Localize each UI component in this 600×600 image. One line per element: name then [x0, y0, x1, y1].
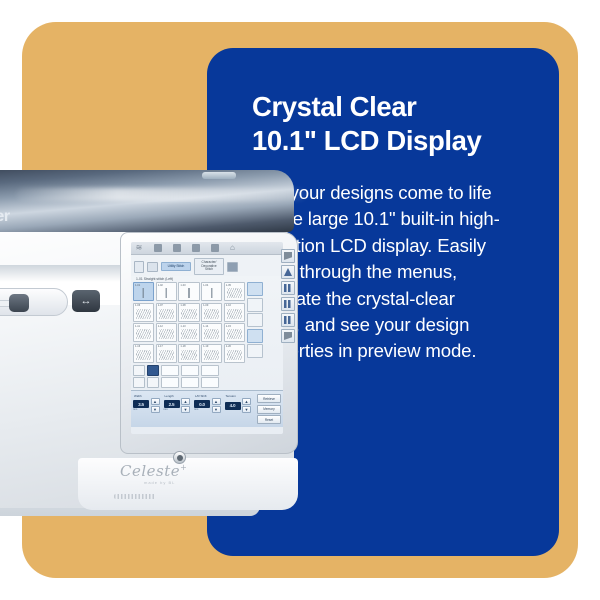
reset-button[interactable]: Reset [257, 415, 281, 424]
memory-button[interactable]: Memory [257, 405, 281, 414]
category-button[interactable] [247, 313, 263, 327]
pattern-cell[interactable] [161, 377, 179, 388]
pattern-cell[interactable] [201, 377, 219, 388]
tension-value: 4.0 [225, 402, 241, 410]
machine-logo-superscript: + [180, 463, 187, 472]
stitch-cell[interactable]: 1-02 [156, 282, 177, 301]
stitch-cell[interactable]: 1-04 [201, 282, 222, 301]
lcd-settings-bar[interactable]: Width 3.5 mm ▲ ▼ [131, 390, 283, 427]
speaker-grille [114, 494, 156, 499]
stitch-preview-thumb [147, 262, 158, 272]
width-value: 3.5 [133, 400, 149, 408]
stitch-list-icon[interactable] [281, 313, 295, 327]
needle-up-down-icon[interactable] [147, 377, 159, 388]
width-decrease-button[interactable]: ▼ [151, 406, 160, 413]
tool-grid[interactable] [133, 365, 159, 389]
presser-foot-icon[interactable] [192, 244, 200, 252]
wifi-icon[interactable]: ≋ [135, 244, 143, 252]
stitch-cell[interactable]: 1-15 [224, 323, 245, 342]
thread-cutter-icon[interactable] [133, 365, 145, 376]
auto-lock-icon[interactable] [147, 365, 159, 376]
document-icon[interactable] [154, 244, 162, 252]
pattern-cell[interactable] [181, 365, 199, 376]
shift-decrease-button[interactable]: ▼ [212, 406, 221, 413]
machine-logo-text: Celeste [120, 462, 180, 480]
tension-control[interactable]: Tension 4.0 ▲ ▼ [225, 394, 254, 413]
category-button[interactable] [247, 298, 263, 312]
sewing-machine-photo: ner · · ▪▪▪ ↔ ≋ ⌂ Util [0, 170, 300, 520]
length-control[interactable]: Length 2.5 mm ▲ ▼ [164, 394, 193, 413]
image-icon[interactable] [173, 244, 181, 252]
stitch-cell[interactable]: 1-13 [178, 323, 199, 342]
stitch-settings-icon[interactable] [227, 262, 238, 272]
arm-highlight [16, 188, 306, 201]
machine-upper-arm [0, 170, 294, 232]
stitch-cell[interactable]: 1-08 [178, 303, 199, 322]
retrieve-button[interactable]: Retrieve [257, 394, 281, 403]
tab-character-stitch[interactable]: Character/ Decorative Stitch [194, 258, 224, 275]
lcd-toolbar[interactable]: ≋ ⌂ [131, 242, 283, 255]
stitch-cell[interactable]: 1-09 [201, 303, 222, 322]
length-unit: mm [164, 408, 180, 411]
stitch-cell[interactable]: 1-10 [224, 303, 245, 322]
stitch-cell[interactable]: 1-05 [224, 282, 245, 301]
machine-brand-text: ner [0, 208, 10, 226]
pattern-cell[interactable] [161, 365, 179, 376]
lcd-screen[interactable]: ≋ ⌂ Utility Stitch Character/ Decorative… [131, 242, 283, 434]
reverse-stitch-button[interactable]: ↔ [72, 290, 100, 312]
lcd-action-buttons[interactable]: Retrieve Memory Reset [257, 394, 281, 424]
machine-logo-subtext: made by BL [144, 480, 175, 485]
stitch-cell[interactable]: 1-17 [156, 344, 177, 363]
stitch-cell[interactable]: 1-18 [178, 344, 199, 363]
stitch-cell[interactable]: 1-12 [156, 323, 177, 342]
needle-position-stepper[interactable] [134, 261, 144, 273]
stitch-cell[interactable]: 1-11 [133, 323, 154, 342]
pattern-cell[interactable] [181, 377, 199, 388]
page-title: Crystal Clear 10.1" LCD Display [252, 90, 525, 157]
shift-value: 0.0 [194, 400, 210, 408]
needle-position-icon[interactable] [281, 249, 295, 263]
width-control[interactable]: Width 3.5 mm ▲ ▼ [133, 394, 162, 413]
stitch-cell[interactable]: 1-14 [201, 323, 222, 342]
stitch-start-icon[interactable] [281, 297, 295, 311]
lock-icon[interactable] [211, 244, 219, 252]
pattern-grid[interactable] [161, 365, 219, 389]
stitch-cell[interactable]: 1-19 [201, 344, 222, 363]
stitch-cell[interactable]: 1-07 [156, 303, 177, 322]
mirror-image-icon[interactable] [281, 265, 295, 279]
lcd-bezel: ≋ ⌂ Utility Stitch Character/ Decorative… [120, 232, 298, 454]
width-unit: mm [133, 408, 149, 411]
stitch-cell[interactable]: 1-06 [133, 303, 154, 322]
machine-front-panel: Celeste+ made by BL [78, 458, 298, 510]
presser-foot-icon[interactable] [281, 329, 295, 343]
stitch-category-column[interactable] [247, 282, 263, 363]
shift-increase-button[interactable]: ▲ [212, 398, 221, 405]
lcd-side-rail[interactable] [281, 249, 295, 343]
category-button[interactable] [247, 329, 263, 343]
stitch-cell[interactable]: 1-16 [133, 344, 154, 363]
slider-knob[interactable] [9, 294, 29, 312]
lcd-tool-area[interactable] [131, 363, 283, 391]
length-increase-button[interactable]: ▲ [181, 398, 190, 405]
tension-increase-button[interactable]: ▲ [242, 398, 251, 405]
category-button[interactable] [247, 344, 263, 358]
shift-unit: mm [194, 408, 210, 411]
length-value: 2.5 [164, 400, 180, 408]
stitch-cell[interactable]: 1-20 [224, 344, 245, 363]
home-icon[interactable]: ⌂ [230, 244, 238, 252]
length-decrease-button[interactable]: ▼ [181, 406, 190, 413]
stitch-grid[interactable]: 1-01 1-02 1-03 1-04 1-05 1-06 1-07 1-08 … [133, 282, 245, 363]
promo-graphic: ner · · ▪▪▪ ↔ ≋ ⌂ Util [0, 0, 600, 600]
tension-decrease-button[interactable]: ▼ [242, 406, 251, 413]
category-button[interactable] [247, 282, 263, 296]
speed-slider[interactable]: · · ▪▪▪ [0, 288, 68, 316]
scissors-icon[interactable] [133, 377, 145, 388]
machine-logo: Celeste+ [120, 462, 187, 480]
stitch-cell[interactable]: 1-01 [133, 282, 154, 301]
shift-control[interactable]: L/R Shift 0.0 mm ▲ ▼ [194, 394, 223, 413]
twin-needle-icon[interactable] [281, 281, 295, 295]
stitch-cell[interactable]: 1-03 [178, 282, 199, 301]
width-increase-button[interactable]: ▲ [151, 398, 160, 405]
tab-utility-stitch[interactable]: Utility Stitch [161, 262, 191, 272]
pattern-cell[interactable] [201, 365, 219, 376]
lcd-stitch-area[interactable]: 1-01 1-02 1-03 1-04 1-05 1-06 1-07 1-08 … [131, 282, 283, 363]
lcd-tab-row[interactable]: Utility Stitch Character/ Decorative Sti… [131, 255, 283, 276]
